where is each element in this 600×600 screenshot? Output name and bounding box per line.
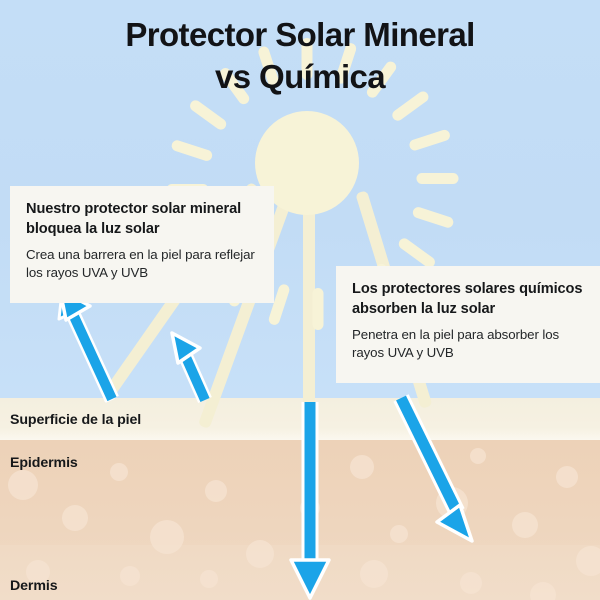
title-line-1: Protector Solar Mineral	[0, 14, 600, 56]
callout-chemical-body: Penetra en la piel para absorber los ray…	[352, 326, 594, 363]
title-line-2: vs Química	[0, 56, 600, 98]
page-title: Protector Solar Mineral vs Química	[0, 14, 600, 98]
callout-chemical: Los protectores solares químicos absorbe…	[336, 266, 600, 383]
callout-mineral-body: Crea una barrera en la piel para refleja…	[26, 246, 258, 283]
callout-mineral-title: Nuestro protector solar mineral bloquea …	[26, 200, 258, 239]
skin-label-epidermis: Epidermis	[10, 455, 78, 471]
callout-chemical-title: Los protectores solares químicos absorbe…	[352, 280, 594, 319]
infographic-canvas: Protector Solar Mineral vs Química Nuest…	[0, 0, 600, 600]
callout-mineral: Nuestro protector solar mineral bloquea …	[10, 186, 274, 303]
absorb-arrow-right	[401, 398, 472, 541]
reflect-arrow-large	[60, 290, 112, 399]
skin-label-surface: Superficie de la piel	[10, 412, 141, 428]
arrow-down-icon	[291, 402, 329, 598]
skin-label-dermis: Dermis	[10, 578, 58, 594]
reflect-arrow-small	[172, 333, 205, 400]
